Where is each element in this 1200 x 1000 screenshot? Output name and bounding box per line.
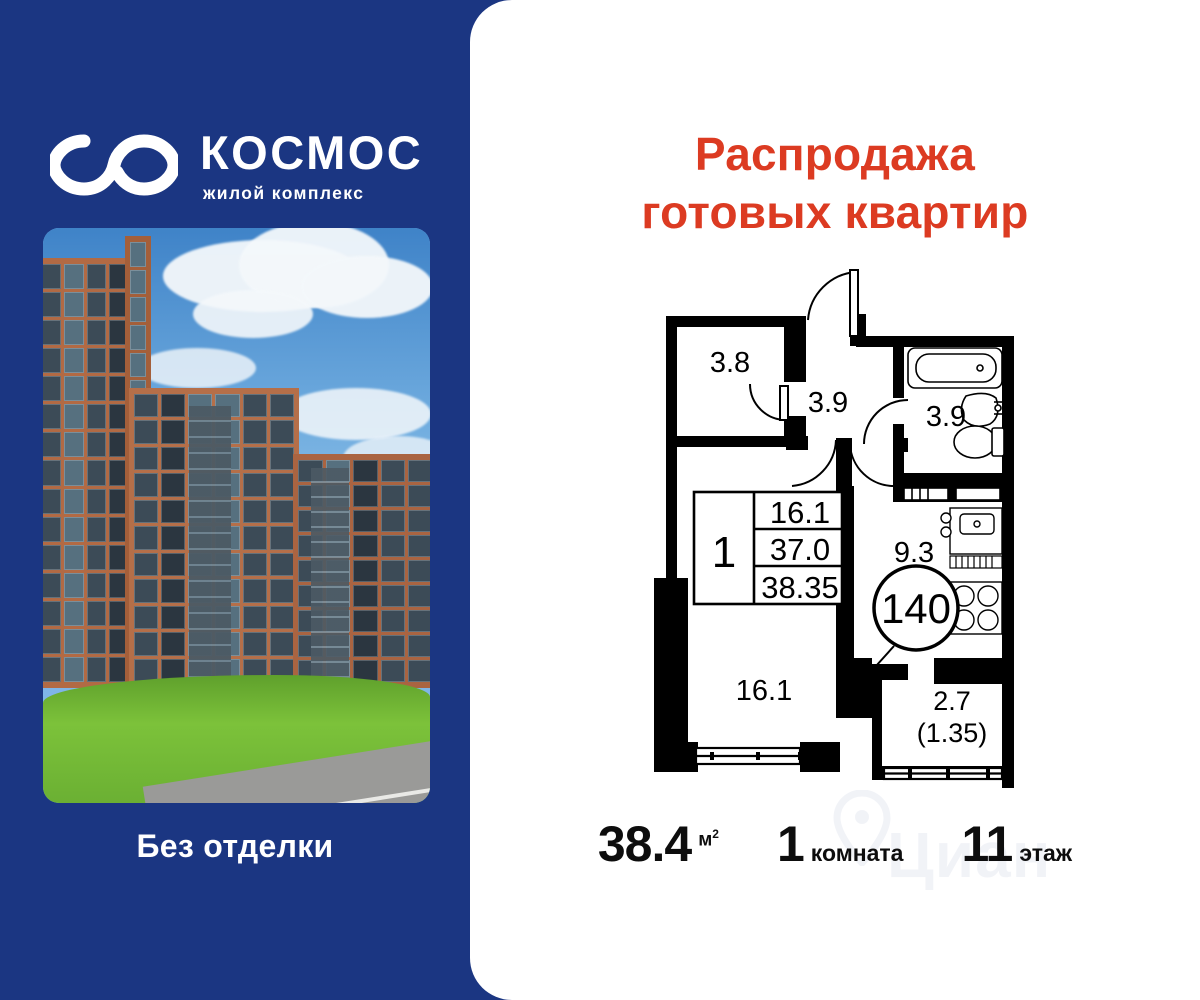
bathtub-icon (908, 348, 1002, 388)
stat-rooms-value: 1 (777, 815, 804, 873)
cloud (281, 388, 430, 440)
stamp-area-no-balcony: 37.0 (770, 532, 830, 567)
building-tower (43, 258, 133, 688)
balcony-column (189, 406, 231, 686)
page-title: Распродажа готовых квартир (470, 126, 1200, 241)
stamp-rooms: 1 (712, 528, 736, 577)
stat-rooms: 1 комната (777, 815, 904, 873)
building-photo (43, 228, 430, 803)
kitchen-sink-icon (941, 508, 1002, 554)
infinity-icon (50, 133, 178, 197)
content-card: Распродажа готовых квартир (470, 0, 1200, 1000)
stamp-living-area: 16.1 (770, 495, 830, 530)
door-swing (750, 272, 908, 486)
floorplan: 3.8 3.9 3.9 9.3 16.1 2.7 (1.35) 140 1 16… (650, 260, 1030, 805)
room-label-storage: 3.8 (710, 347, 750, 379)
room-label-living: 16.1 (736, 675, 792, 707)
room-label-kitchen: 9.3 (894, 537, 934, 569)
sink-icon (961, 393, 1002, 426)
headline-line-1: Распродажа (695, 128, 975, 180)
cloud (138, 348, 256, 388)
stamp-area-total: 38.35 (761, 570, 839, 605)
finish-caption: Без отделки (0, 828, 470, 865)
balcony-counted-area: (1.35) (917, 718, 988, 748)
balcony-column (311, 468, 349, 686)
stat-area-value: 38.4 (598, 815, 691, 873)
left-brand-panel: КОСМОС жилой комплекс (0, 0, 470, 1000)
stat-floor: 11 этаж (961, 815, 1072, 873)
brand-text: КОСМОС жилой комплекс (200, 127, 423, 203)
stat-area-unit: м2 (698, 827, 719, 851)
apartment-number: 140 (881, 585, 951, 632)
brand-subtitle: жилой комплекс (203, 185, 423, 203)
stat-rooms-unit: комната (811, 840, 904, 867)
balcony-area: 2.7 (933, 686, 971, 716)
room-label-hallway: 3.9 (808, 387, 848, 419)
apartment-stats: 38.4 м2 1 комната 11 этаж (470, 815, 1200, 873)
brand-name: КОСМОС (200, 129, 423, 176)
stat-area: 38.4 м2 (598, 815, 719, 873)
headline-line-2: готовых квартир (641, 186, 1028, 238)
room-label-bathroom: 3.9 (926, 401, 966, 433)
cloud (301, 256, 430, 318)
brand-lockup: КОСМОС жилой комплекс (50, 122, 450, 208)
stat-floor-unit: этаж (1019, 840, 1072, 867)
floorplan-drawing: 3.8 3.9 3.9 9.3 16.1 2.7 (1.35) 140 1 16… (650, 260, 1030, 805)
apartment-number-badge: 140 (874, 566, 958, 666)
stat-floor-value: 11 (961, 815, 1012, 873)
cloud (193, 290, 313, 338)
